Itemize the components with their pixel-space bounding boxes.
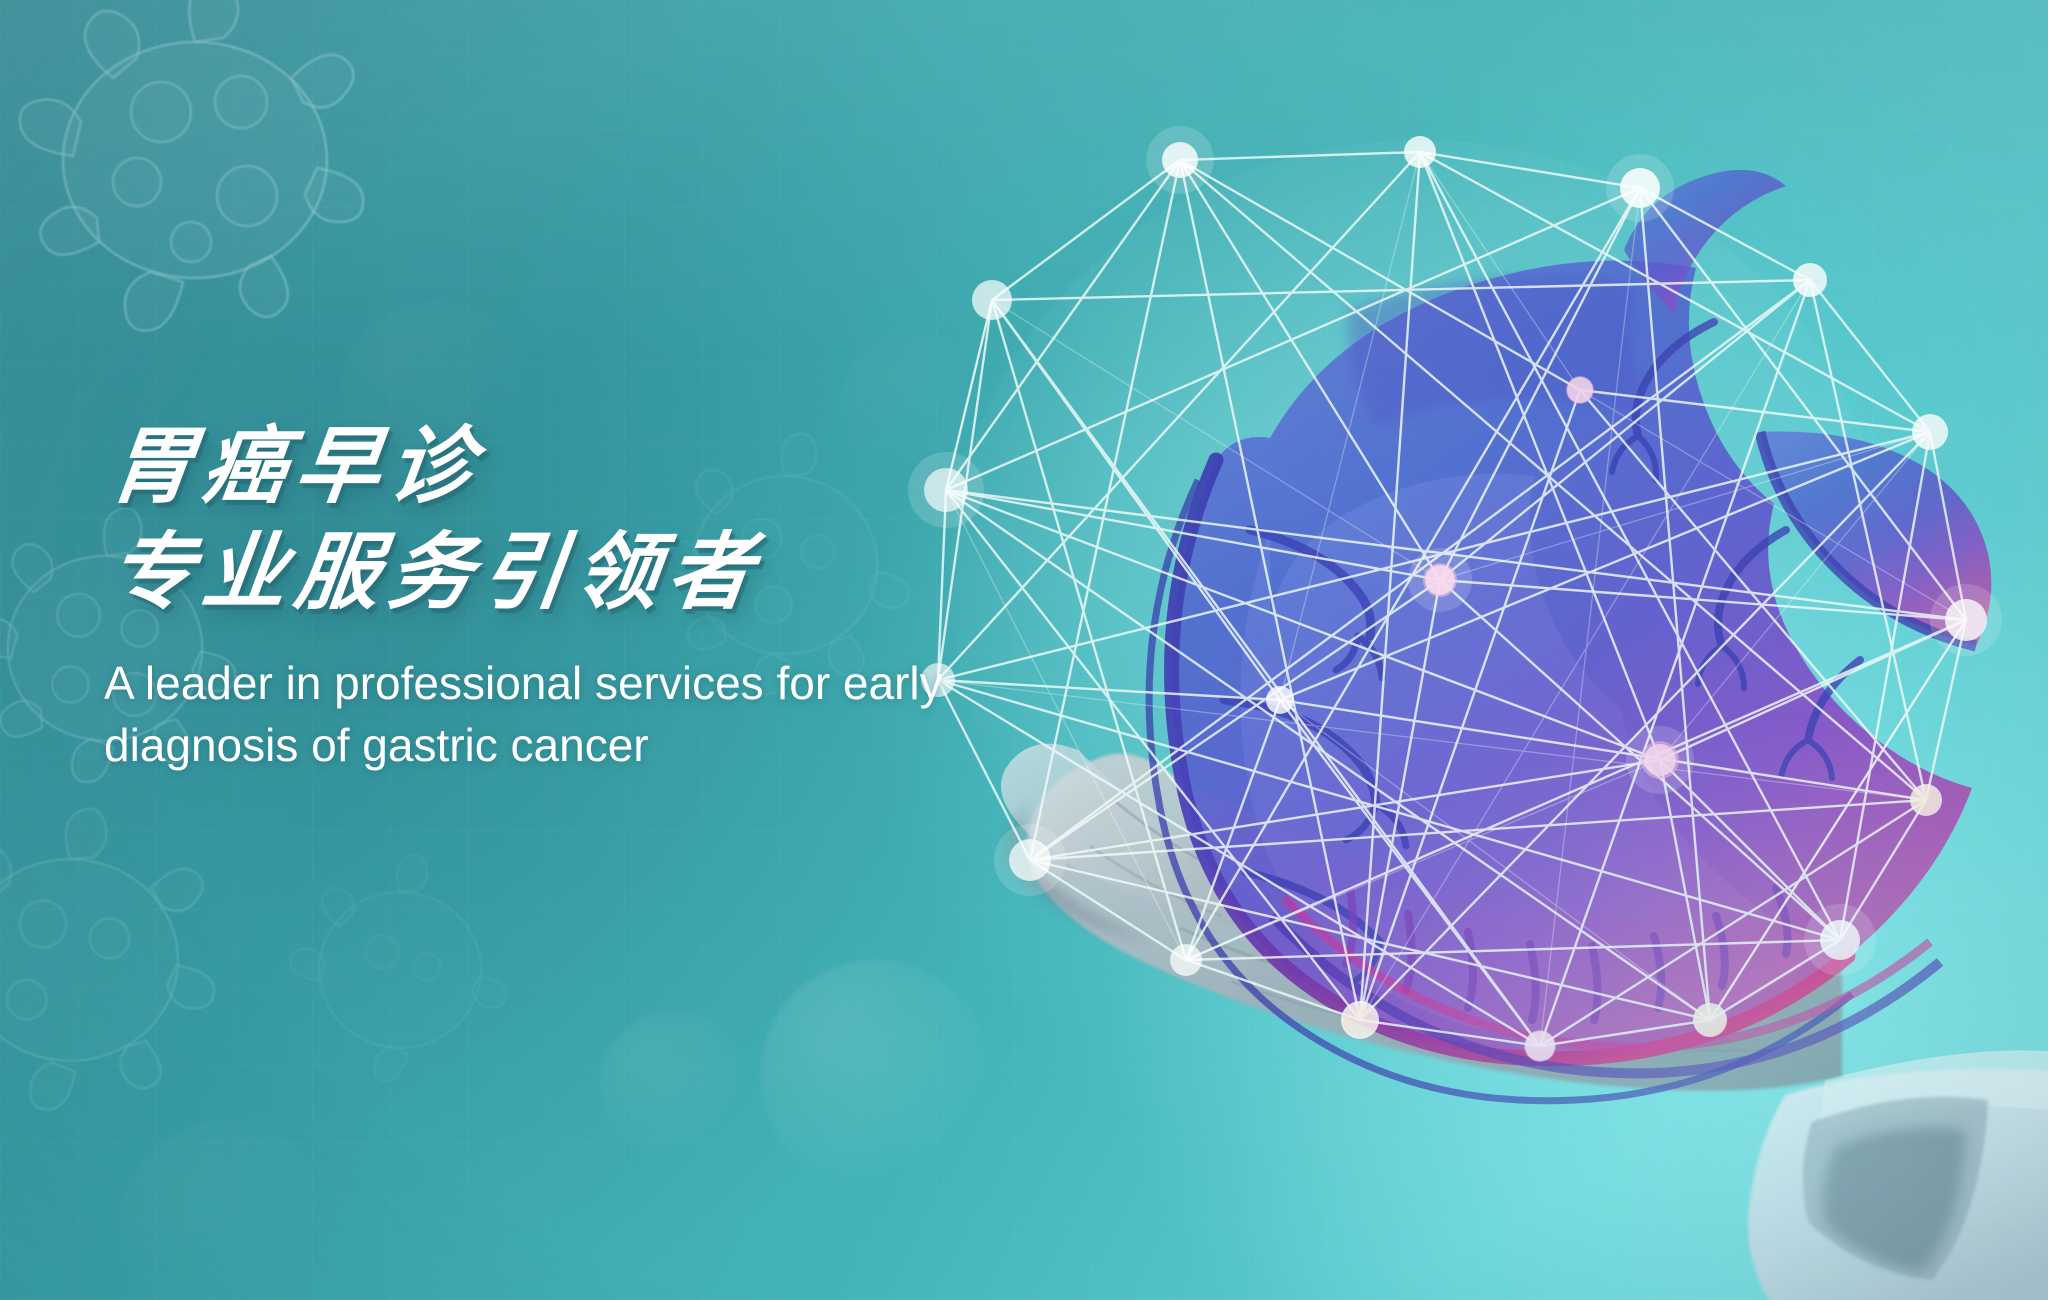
headline-line-2: 专业服务引领者: [104, 524, 1196, 620]
subtitle-text: A leader in professional services for ea…: [104, 652, 964, 776]
headline-line-1: 胃癌早诊: [104, 418, 1196, 514]
headline-block: 胃癌早诊 专业服务引领者 A leader in professional se…: [104, 418, 1184, 776]
promo-banner: 胃癌早诊 专业服务引领者 A leader in professional se…: [0, 0, 2048, 1300]
